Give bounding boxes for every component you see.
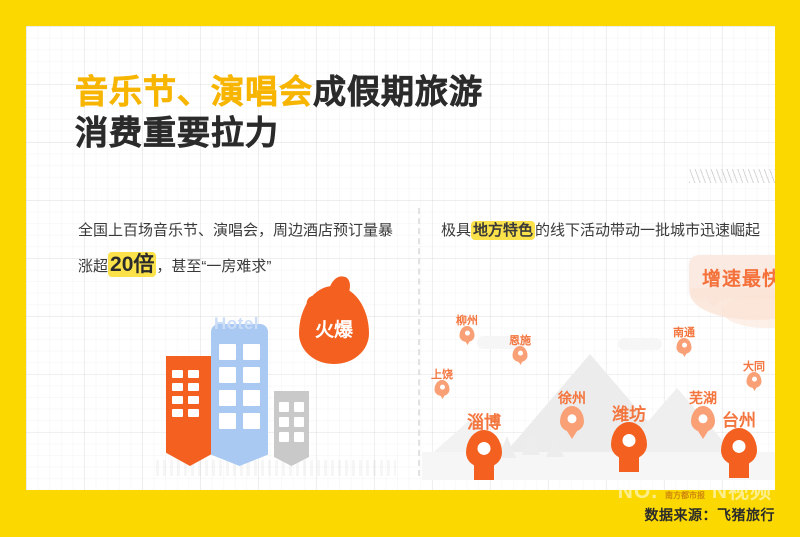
map-pin-marker-icon [747,372,762,388]
map-pin-marker-icon [677,338,692,354]
paragraph-right-part2: 的线下活动带动一批城市迅速崛起 [535,222,760,239]
title-line2: 消费重要拉力 [75,114,279,151]
flame-badge-icon: 火爆 [299,286,369,364]
hatch-decoration [689,169,775,183]
map-pin-dot [568,414,577,423]
flame-label: 火爆 [299,286,369,364]
tree-icon-4 [546,435,564,457]
map-pin-marker-icon [560,406,584,432]
data-source-label: 数据来源：飞猪旅行 [645,505,776,525]
cloud-icon-2 [618,338,662,350]
map-pin-marker-icon [721,428,757,466]
content-card: 音乐节、演唱会成假期旅游 消费重要拉力 全国上百场音乐节、演唱会，周边酒店预订量… [26,26,775,490]
paragraph-right-part1: 极具 [441,222,471,239]
watermark: NO. 南方都市报 N视频 [618,475,772,505]
map-pin-marker-icon [435,380,450,396]
vertical-divider [418,208,420,476]
map-pin-dot [465,331,470,336]
map-pin-marker-icon [691,406,715,432]
watermark-prefix: NO. [618,480,658,503]
map-pin-dot [478,442,491,455]
map-pin-marker-icon [460,326,475,342]
tree-icon-3 [522,433,540,455]
paragraph-right-highlight: 地方特色 [471,221,535,240]
paragraph-left-highlight: 20倍 [108,252,156,277]
map-pin-marker-icon [466,430,502,468]
building-hotel-windows [219,344,260,429]
paragraph-right: 极具地方特色的线下活动带动一批城市迅速崛起 [441,214,771,248]
hotel-sign-label: Hotel [214,314,259,334]
map-pin-dot [699,414,708,423]
title-highlight: 音乐节、演唱会 [75,73,313,110]
building-gray-windows [279,402,304,442]
fastest-growth-label: 增速最快 [702,264,775,291]
map-pin-dot [518,351,523,356]
map-pin-marker-icon [513,346,528,362]
map-pin-dot [733,440,746,453]
map-pin-dot [440,385,445,390]
poster-root: 音乐节、演唱会成假期旅游 消费重要拉力 全国上百场音乐节、演唱会，周边酒店预订量… [0,0,800,537]
building-orange-windows [172,370,199,417]
map-pin-dot [752,377,757,382]
watermark-sub: 南方都市报 [665,491,705,500]
paragraph-left-part2: ，甚至“一房难求” [156,258,271,275]
footer-bar: NO. 南方都市报 N视频 数据来源：飞猪旅行 [0,490,800,537]
map-pin-label: 徐州 [558,388,586,408]
map-pin-dot [682,343,687,348]
paragraph-left: 全国上百场音乐节、演唱会，周边酒店预订量暴涨超20倍，甚至“一房难求” [78,214,398,284]
watermark-brand: N视频 [712,480,772,503]
map-pin-dot [623,434,636,447]
hotel-illustration: Hotel 火爆 [156,284,396,479]
map-pin-marker-icon [611,422,647,460]
city-map-scene: 柳州恩施上饶淄博徐州潍坊南通芜湖大同台州 [422,288,775,480]
title-line1-rest: 成假期旅游 [313,73,483,110]
map-pin-label: 芜湖 [689,388,717,408]
page-title: 音乐节、演唱会成假期旅游 消费重要拉力 [75,71,483,153]
